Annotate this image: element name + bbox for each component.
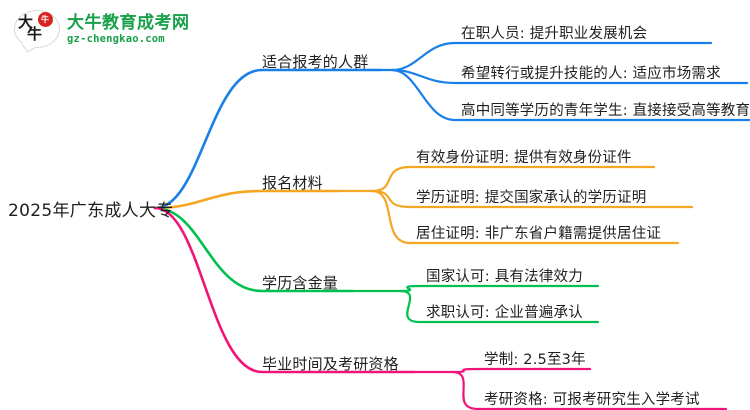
mindmap-branch-node-1[interactable]: 适合报考的人群 [262, 51, 368, 72]
mindmap-branch-node-4[interactable]: 毕业时间及考研资格 [262, 353, 399, 374]
mindmap-leaf-node-2-1[interactable]: 有效身份证明: 提供有效身份证件 [416, 146, 632, 167]
connector-path [400, 286, 598, 291]
mindmap-canvas: 大 牛 牛 大牛教育成考网 gz-chengkao.com 2025年广东成人大… [0, 0, 750, 410]
mindmap-leaf-node-1-3[interactable]: 高中同等学历的青年学生: 直接接受高等教育 [461, 99, 750, 120]
mindmap-leaf-node-2-2[interactable]: 学历证明: 提交国家承认的学历证明 [416, 186, 646, 207]
mindmap-leaf-node-1-2[interactable]: 希望转行或提升技能的人: 适应市场需求 [461, 62, 721, 83]
mindmap-leaf-node-2-3[interactable]: 居住证明: 非广东省户籍需提供居住证 [416, 222, 661, 243]
logo-red-badge: 牛 [38, 12, 53, 27]
connector-path [155, 191, 338, 208]
mindmap-leaf-node-3-1[interactable]: 国家认可: 具有法律效力 [426, 265, 583, 286]
mindmap-leaf-node-3-2[interactable]: 求职认可: 企业普遍承认 [426, 301, 583, 322]
mindmap-leaf-node-4-1[interactable]: 学制: 2.5至3年 [484, 348, 586, 369]
logo-name-cn: 大牛教育成考网 [67, 14, 190, 33]
logo-bubble-icon: 大 牛 牛 [14, 8, 60, 52]
mindmap-leaf-node-1-1[interactable]: 在职人员: 提升职业发展机会 [461, 22, 647, 43]
logo-wordmark: 大牛教育成考网 gz-chengkao.com [67, 14, 190, 46]
site-logo[interactable]: 大 牛 牛 大牛教育成考网 gz-chengkao.com [14, 8, 190, 52]
mindmap-leaf-node-4-2[interactable]: 考研资格: 可报考研究生入学考试 [484, 388, 700, 409]
logo-badge-char: 牛 [41, 15, 50, 25]
logo-name-en: gz-chengkao.com [67, 33, 190, 46]
connector-path [452, 369, 590, 372]
logo-mark-char-2: 牛 [27, 28, 54, 41]
mindmap-root-node[interactable]: 2025年广东成人大专 [8, 196, 174, 221]
mindmap-branch-node-2[interactable]: 报名材料 [262, 172, 323, 193]
mindmap-branch-node-3[interactable]: 学历含金量 [262, 272, 338, 293]
